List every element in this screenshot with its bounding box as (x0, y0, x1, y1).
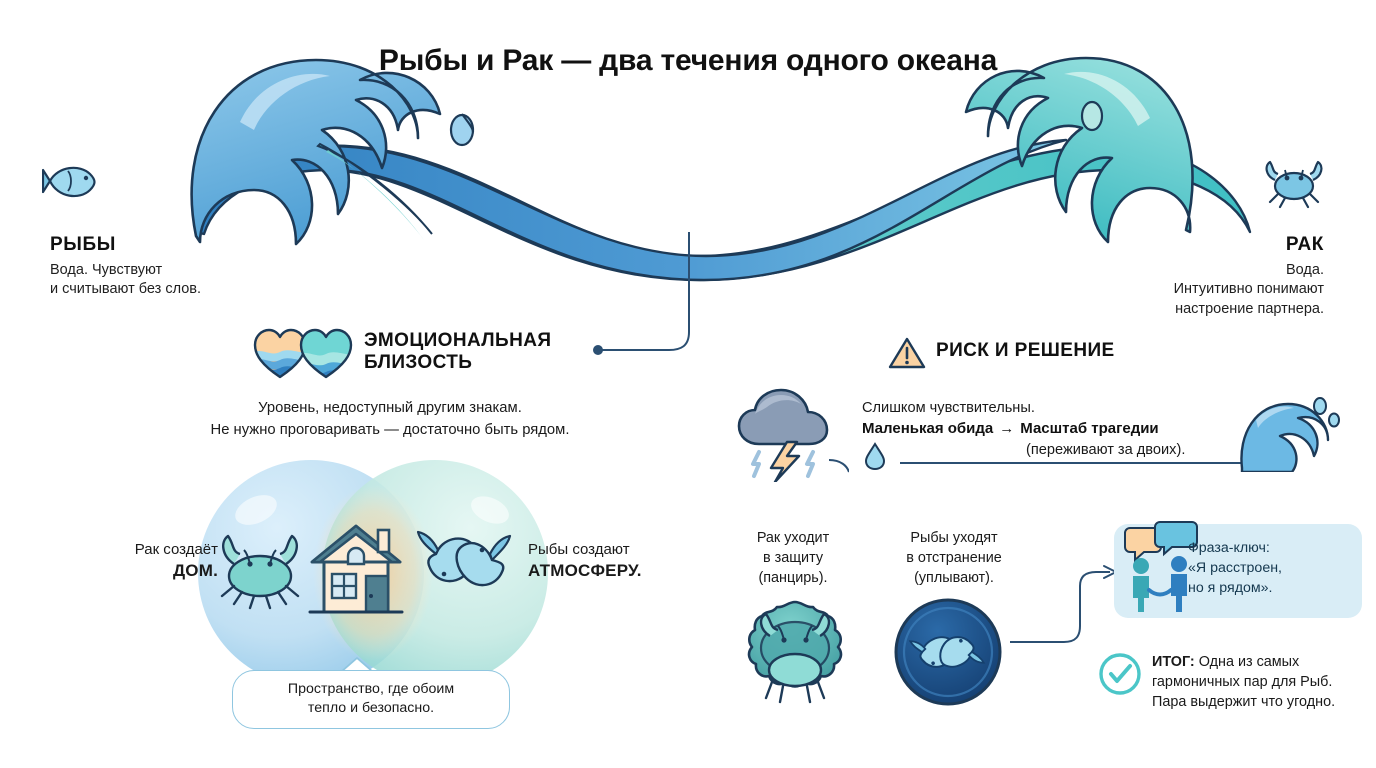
cancer-reaction-label: Рак уходит в защиту (панцирь). (728, 528, 858, 588)
risk-line-2-right: Масштаб трагедии (1020, 420, 1158, 437)
warning-triangle-icon (888, 336, 926, 370)
venn-cancer-label: Рак создаёт ДОМ. (58, 540, 218, 583)
venn-cancer-label-strong: ДОМ. (58, 560, 218, 583)
result-text-1: Одна из самых (1195, 654, 1300, 670)
key-phrase-line-3: но я рядом». (1188, 578, 1356, 598)
cancer-name: РАК (1074, 234, 1324, 256)
droplet-icon (864, 442, 886, 470)
cancer-description: Вода. Интуитивно понимают настроение пар… (1074, 261, 1324, 319)
emotional-body-line-1: Уровень, недоступный другим знакам. (120, 398, 660, 420)
venn-pisces-label-strong: АТМОСФЕРУ. (528, 560, 708, 583)
emotional-body-text: Уровень, недоступный другим знакам. Не н… (120, 398, 660, 441)
risk-line-2-left: Маленькая обида (862, 420, 993, 437)
check-circle-icon (1098, 652, 1142, 696)
venn-pisces-label: Рыбы создают АТМОСФЕРУ. (528, 540, 708, 583)
key-phrase-text: Фраза-ключ: «Я расстроен, но я рядом». (1188, 538, 1356, 598)
risk-text-block: Слишком чувствительны. Маленькая обида→М… (862, 398, 1282, 461)
venn-callout: Пространство, где обоим тепло и безопасн… (232, 670, 510, 729)
reaction-connector-arrow (1006, 560, 1126, 650)
key-phrase-line-1: Фраза-ключ: (1188, 538, 1356, 558)
venn-callout-line-1: Пространство, где обоим (247, 680, 495, 699)
result-line-2: гармоничных пар для Рыб. (1152, 672, 1376, 692)
venn-pisces-label-top: Рыбы создают (528, 540, 708, 560)
result-text: ИТОГ: Одна из самых гармоничных пар для … (1152, 652, 1376, 712)
emotional-section-heading: ЭМОЦИОНАЛЬНАЯ БЛИЗОСТЬ (364, 330, 594, 375)
pisces-description: Вода. Чувствуют и считывают без слов. (50, 261, 300, 300)
crab-icon (1262, 152, 1326, 210)
crab-shield-icon (736, 596, 854, 708)
pisces-name: РЫБЫ (50, 234, 300, 256)
risk-section-heading: РИСК И РЕШЕНИЕ (936, 340, 1196, 362)
venn-callout-line-2: тепло и безопасно. (247, 699, 495, 718)
arrow-icon: → (993, 420, 1020, 437)
risk-underline (900, 462, 1248, 464)
result-label: ИТОГ: (1152, 654, 1195, 670)
storm-cloud-icon (733, 386, 849, 482)
fish-icon (42, 158, 104, 204)
key-phrase-line-2: «Я расстроен, (1188, 558, 1356, 578)
risk-line-1: Слишком чувствительны. (862, 398, 1282, 418)
venn-cancer-label-top: Рак создаёт (58, 540, 218, 560)
pisces-label-block: РЫБЫ Вода. Чувствуют и считывают без сло… (50, 234, 300, 300)
result-line-1: ИТОГ: Одна из самых (1152, 652, 1376, 672)
emotional-body-line-2: Не нужно проговаривать — достаточно быть… (120, 420, 660, 442)
wave-icon (1236, 394, 1340, 472)
emotional-connector-line (585, 232, 715, 362)
venn-diagram (178, 458, 568, 688)
result-line-3: Пара выдержит что угодно. (1152, 692, 1376, 712)
two-fish-circle-icon (892, 596, 1004, 708)
cancer-label-block: РАК Вода. Интуитивно понимают настроение… (1074, 234, 1324, 319)
two-hearts-icon (252, 325, 356, 381)
risk-line-2: Маленькая обида→Масштаб трагедии (862, 418, 1282, 440)
